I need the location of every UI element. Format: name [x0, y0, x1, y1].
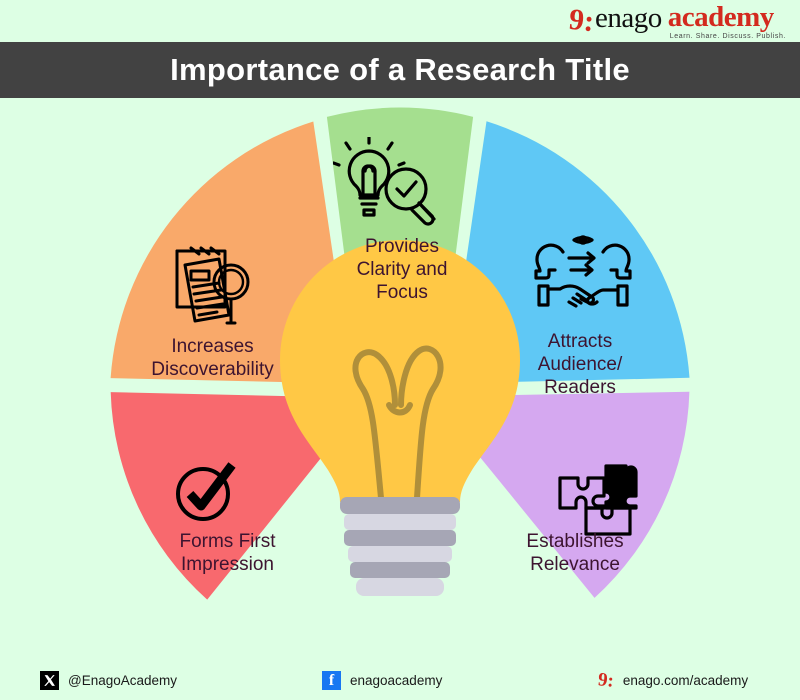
- logo-enago-text: enago: [595, 4, 662, 33]
- logo-tagline: Learn. Share. Discuss. Publish.: [670, 33, 786, 40]
- enago-academy-logo[interactable]: 9: enago academy Learn. Share. Discuss. …: [569, 2, 786, 40]
- segmented-wheel-diagram: Provides Clarity and Focus Attracts Audi…: [95, 105, 705, 660]
- enago-icon: 9:: [597, 670, 615, 691]
- title-bar: Importance of a Research Title: [0, 42, 800, 98]
- footer-bar: @EnagoAcademy f enagoacademy 9: enago.co…: [0, 660, 800, 700]
- footer-handle-website: enago.com/academy: [623, 673, 748, 688]
- logo-academy-text: academy: [668, 4, 786, 32]
- facebook-icon: f: [322, 671, 341, 690]
- infographic-page: 9: enago academy Learn. Share. Discuss. …: [0, 0, 800, 700]
- wheel-svg: [95, 105, 705, 660]
- enago-logo-mark: 9:: [567, 5, 595, 37]
- x-twitter-icon: [40, 671, 59, 690]
- logo-bar: 9: enago academy Learn. Share. Discuss. …: [0, 0, 800, 42]
- footer-item-website[interactable]: 9: enago.com/academy: [598, 671, 748, 690]
- page-title: Importance of a Research Title: [170, 52, 630, 88]
- footer-item-twitter[interactable]: @EnagoAcademy: [40, 671, 177, 690]
- center-lightbulb-icon: [280, 240, 520, 596]
- logo-academy-group: academy Learn. Share. Discuss. Publish.: [668, 4, 786, 40]
- footer-item-facebook[interactable]: f enagoacademy: [322, 671, 442, 690]
- footer-handle-twitter: @EnagoAcademy: [68, 673, 177, 688]
- footer-handle-facebook: enagoacademy: [350, 673, 442, 688]
